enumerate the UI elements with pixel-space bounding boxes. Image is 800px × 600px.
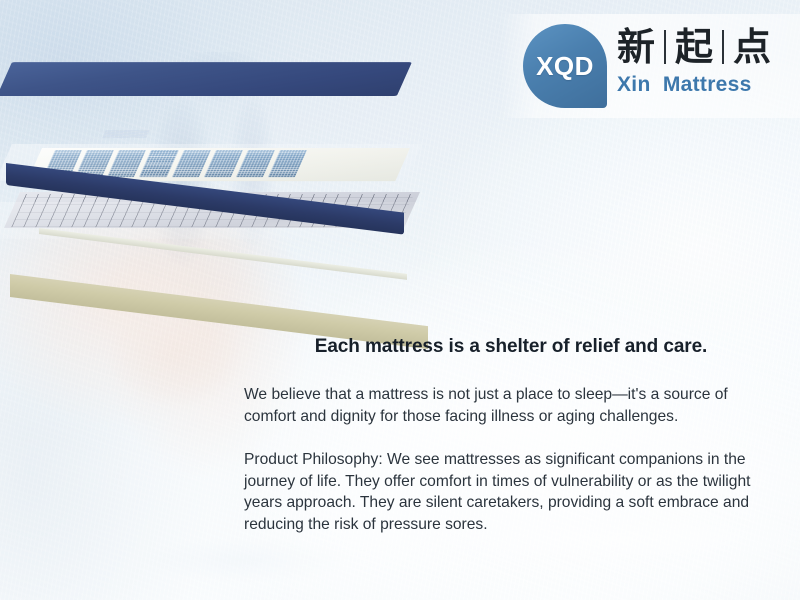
brand-cn-char-2: 起 bbox=[675, 28, 713, 66]
brand-cn-separator-icon bbox=[664, 30, 666, 64]
body-paragraph-2: Product Philosophy: We see mattresses as… bbox=[244, 449, 778, 535]
mattress-cover-label-tag bbox=[102, 130, 150, 138]
brand-logo: XQD 新 起 点 Xin Mattress bbox=[523, 24, 771, 108]
logo-mark-text: XQD bbox=[536, 51, 594, 82]
copy-block: Each mattress is a shelter of relief and… bbox=[244, 336, 778, 535]
brand-name-english: Xin Mattress bbox=[617, 73, 771, 97]
brand-wordmark: 新 起 点 Xin Mattress bbox=[617, 24, 771, 97]
brand-cn-separator-icon bbox=[722, 30, 724, 64]
mattress-layer-cover-top bbox=[0, 62, 412, 96]
marketing-poster: XQD 新 起 点 Xin Mattress Each mattress is … bbox=[0, 0, 800, 600]
headline: Each mattress is a shelter of relief and… bbox=[244, 336, 778, 358]
brand-name-chinese: 新 起 点 bbox=[617, 28, 771, 66]
brand-cn-char-3: 点 bbox=[733, 28, 771, 66]
exploded-mattress-illustration bbox=[0, 52, 452, 267]
body-paragraph-1: We believe that a mattress is not just a… bbox=[244, 384, 778, 427]
xqd-teardrop-logo-icon: XQD bbox=[523, 24, 607, 108]
brand-cn-char-1: 新 bbox=[617, 28, 655, 66]
